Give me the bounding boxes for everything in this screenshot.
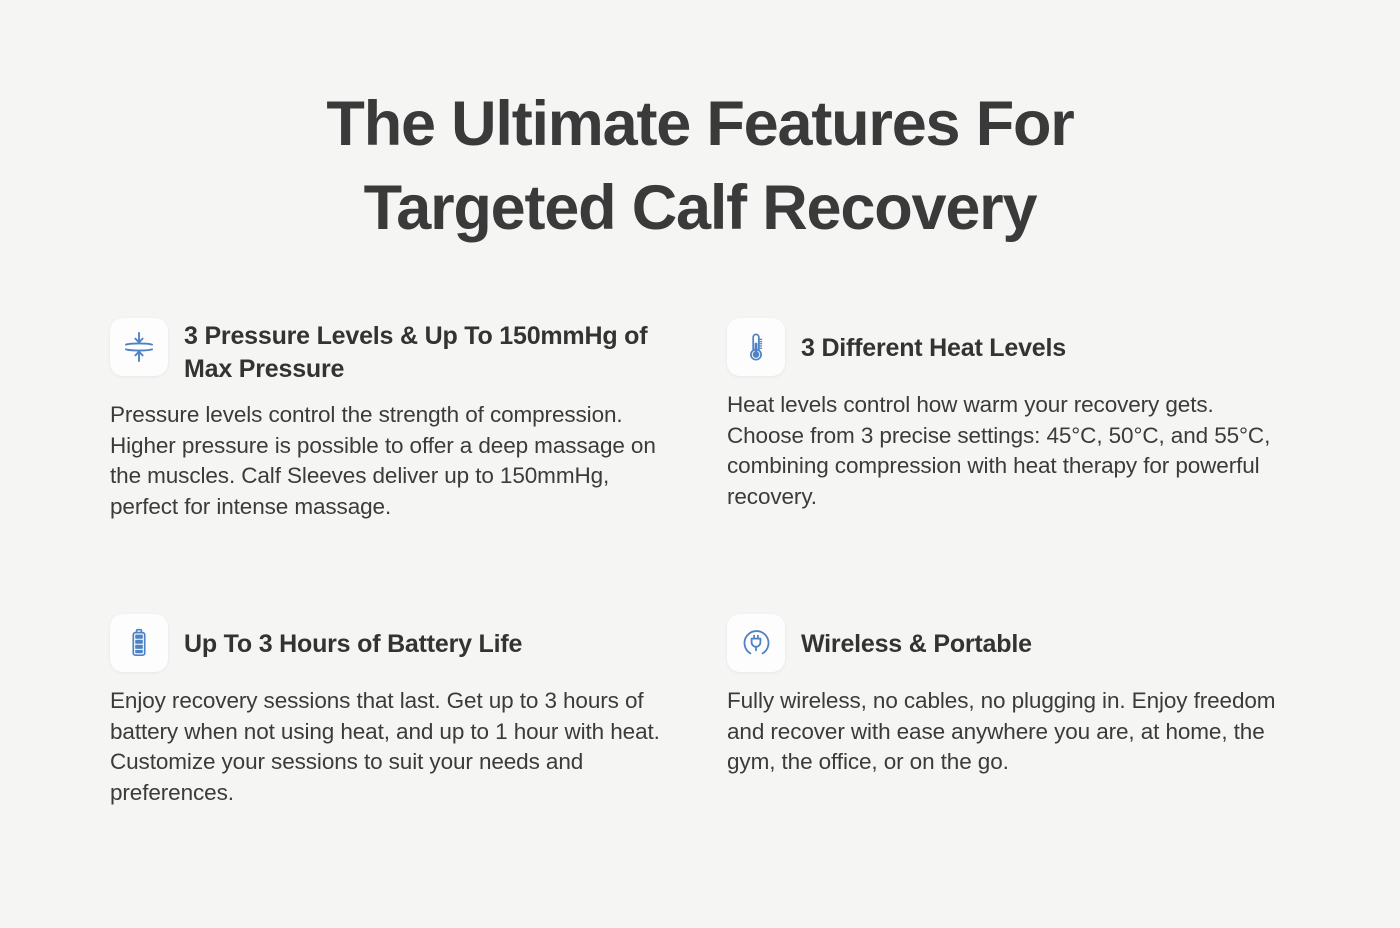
feature-description: Enjoy recovery sessions that last. Get u… (110, 686, 670, 808)
feature-card-battery: Up To 3 Hours of Battery Life Enjoy reco… (110, 614, 698, 808)
feature-title: 3 Pressure Levels & Up To 150mmHg of Max… (184, 318, 654, 386)
compression-icon (110, 318, 168, 376)
page-title-line-2: Targeted Calf Recovery (0, 166, 1400, 250)
feature-card-header: 3 Different Heat Levels (727, 318, 1315, 376)
feature-title: Wireless & Portable (801, 614, 1032, 661)
feature-grid: 3 Pressure Levels & Up To 150mmHg of Max… (110, 318, 1295, 808)
feature-description: Fully wireless, no cables, no plugging i… (727, 686, 1293, 778)
feature-card-header: 3 Pressure Levels & Up To 150mmHg of Max… (110, 318, 698, 386)
battery-icon (110, 614, 168, 672)
feature-description: Heat levels control how warm your recove… (727, 390, 1293, 512)
feature-card-wireless: Wireless & Portable Fully wireless, no c… (727, 614, 1315, 808)
wireless-plug-icon (727, 614, 785, 672)
thermometer-icon (727, 318, 785, 376)
feature-description: Pressure levels control the strength of … (110, 400, 676, 522)
feature-card-heat: 3 Different Heat Levels Heat levels cont… (727, 318, 1315, 522)
feature-card-header: Up To 3 Hours of Battery Life (110, 614, 698, 672)
features-section: The Ultimate Features For Targeted Calf … (0, 0, 1400, 928)
feature-card-pressure: 3 Pressure Levels & Up To 150mmHg of Max… (110, 318, 698, 522)
page-title-line-1: The Ultimate Features For (0, 82, 1400, 166)
page-title: The Ultimate Features For Targeted Calf … (0, 82, 1400, 250)
feature-title: Up To 3 Hours of Battery Life (184, 614, 522, 661)
feature-title: 3 Different Heat Levels (801, 318, 1066, 365)
feature-card-header: Wireless & Portable (727, 614, 1315, 672)
